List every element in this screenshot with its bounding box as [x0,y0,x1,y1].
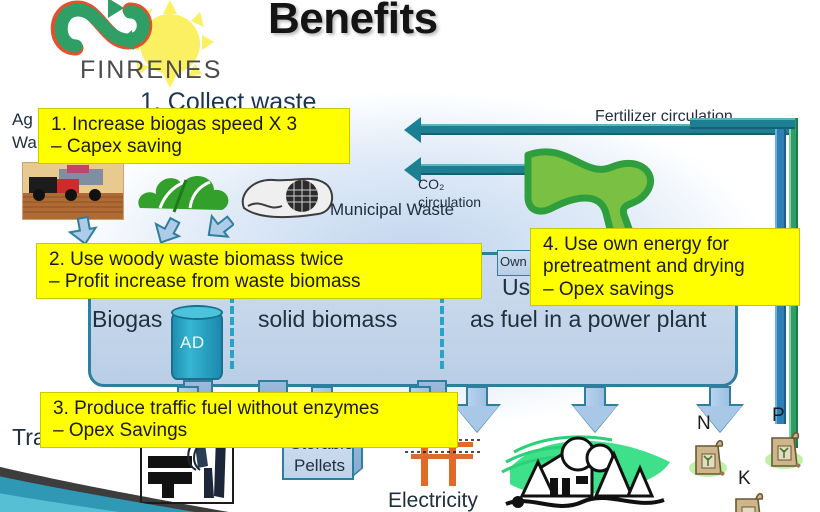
logo-wordmark: FINRENES [80,56,222,85]
agricultural-waste-label-line2: Wa [12,133,37,153]
solid-biomass-label: solid biomass [258,306,397,333]
page-title: Benefits [268,0,438,44]
collect-arrow-1-icon [68,216,98,246]
callout-3-line2: – Opex Savings [53,420,447,442]
callout-4[interactable]: 4. Use own energy for pretreatment and d… [530,228,800,306]
green-leaf-icon [520,145,665,240]
callout-1-line2: – Capex saving [51,136,339,158]
band-divider-2 [440,295,444,369]
slide-canvas: FINRENES Benefits 1. Collect waste Ag Wa [0,0,820,512]
agricultural-waste-label-line1: Ag [12,110,33,130]
use-partial-label: Us [502,274,530,301]
band-divider-1 [230,295,234,369]
woody-biomass-clipart [130,162,240,218]
collect-arrow-3-icon [204,212,234,242]
fertilizer-arrowhead-icon [404,117,421,143]
callout-3-line1: 3. Produce traffic fuel without enzymes [53,398,379,419]
electricity-label: Electricity [388,489,478,512]
biogas-label: Biogas [92,306,162,333]
nutrient-bag-k-icon [728,487,768,512]
truck-clipart [22,162,124,220]
callout-2-line2: – Profit increase from waste biomass [49,271,471,293]
callout-1-line1: 1. Increase biogas speed X 3 [51,114,297,135]
nutrient-bag-p-icon [764,426,804,470]
co2-label-line1: CO₂ [418,176,444,192]
top-right-corner-pipe [690,118,795,129]
collect-arrow-2-icon [152,216,182,246]
municipal-waste-clipart [238,168,338,220]
callout-4-line3: – Opex savings [543,279,789,301]
callout-2-line1: 2. Use woody waste biomass twice [49,249,344,270]
nutrient-bag-n-icon [688,434,728,478]
own-label: Own [500,254,527,269]
nutrient-n-label: N [697,413,711,435]
finrenes-logo: FINRENES [34,0,234,94]
ad-tank-label: AD [180,333,205,353]
callout-1[interactable]: 1. Increase biogas speed X 3 – Capex sav… [38,108,350,164]
callout-4-line1: 4. Use own energy for [543,234,729,255]
nutrient-p-label: P [772,405,785,427]
callout-3[interactable]: 3. Produce traffic fuel without enzymes … [40,392,458,448]
down-arrow-heat-icon [455,386,499,432]
village-clipart [500,418,690,512]
co2-label-line2: circulation [418,194,481,210]
callout-2[interactable]: 2. Use woody waste biomass twice – Profi… [36,243,482,299]
as-fuel-label: as fuel in a power plant [470,306,707,333]
callout-4-line2: pretreatment and drying [543,256,789,278]
